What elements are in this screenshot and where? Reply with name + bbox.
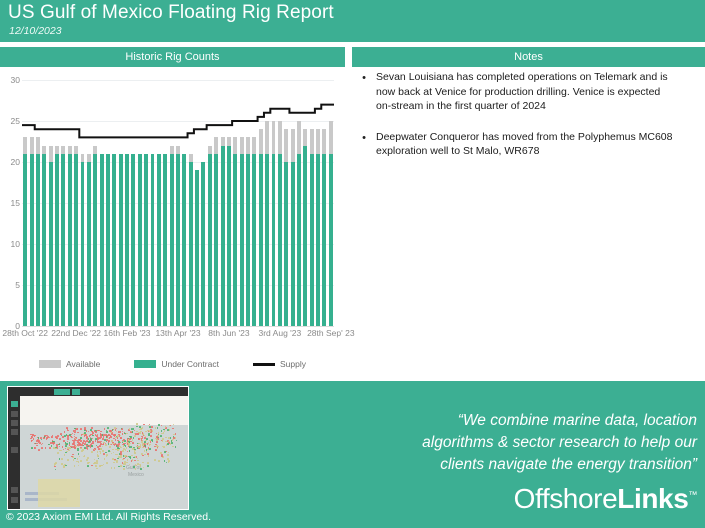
- map-rig-marker: [120, 453, 122, 455]
- map-rig-marker: [54, 466, 56, 468]
- map-rig-marker: [162, 438, 164, 440]
- bullet-icon: •: [352, 70, 376, 114]
- map-rig-marker: [137, 460, 139, 462]
- map-rig-marker: [129, 456, 131, 458]
- map-rig-marker: [81, 444, 83, 446]
- map-rig-marker: [142, 427, 144, 429]
- map-rig-marker: [111, 434, 113, 436]
- map-rig-marker: [86, 459, 88, 461]
- map-rig-marker: [119, 435, 121, 437]
- map-rig-marker: [38, 440, 40, 442]
- map-rig-marker: [126, 433, 128, 435]
- map-rig-marker: [84, 432, 86, 434]
- map-layers-button[interactable]: [11, 401, 18, 407]
- map-rig-marker: [80, 437, 82, 439]
- map-rig-marker: [134, 435, 136, 437]
- map-rig-marker: [140, 428, 142, 430]
- map-rig-marker: [167, 454, 169, 456]
- chart-y-tick-label: 5: [2, 280, 20, 290]
- map-rig-marker: [136, 431, 138, 433]
- map-rig-marker: [137, 433, 139, 435]
- map-rig-marker: [118, 441, 120, 443]
- map-rig-marker: [54, 463, 56, 465]
- gulf-map-thumbnail[interactable]: Gulf of Mexico: [7, 386, 189, 510]
- note-text: Sevan Louisiana has completed operations…: [376, 70, 676, 114]
- chart-x-tick-label: 3rd Aug '23: [259, 328, 302, 338]
- map-rig-marker: [44, 436, 46, 438]
- map-rig-marker: [97, 455, 99, 457]
- map-rig-marker: [109, 437, 111, 439]
- map-rig-marker: [91, 445, 93, 447]
- legend-swatch-icon: [39, 360, 61, 368]
- map-rig-marker: [125, 449, 127, 451]
- map-rig-marker: [46, 437, 48, 439]
- map-rig-marker: [31, 436, 33, 438]
- map-rig-marker: [156, 436, 158, 438]
- map-rig-marker: [95, 431, 97, 433]
- copyright-text: © 2023 Axiom EMI Ltd. All Rights Reserve…: [6, 511, 211, 523]
- map-rig-marker: [151, 426, 153, 428]
- map-rig-marker: [147, 453, 149, 455]
- chart-legend: AvailableUnder ContractSupply: [0, 355, 345, 373]
- map-rig-marker: [99, 445, 101, 447]
- legend-item[interactable]: Under Contract: [134, 359, 219, 369]
- map-rig-marker: [155, 449, 157, 451]
- map-rig-marker: [92, 443, 94, 445]
- map-rig-marker: [112, 429, 114, 431]
- map-rig-marker: [157, 446, 159, 448]
- map-rig-marker: [77, 449, 79, 451]
- map-rig-marker: [154, 459, 156, 461]
- map-rig-marker: [76, 461, 78, 463]
- chart-x-tick-label: 8th Jun '23: [208, 328, 249, 338]
- map-filter-chip-1[interactable]: [54, 389, 70, 395]
- map-rig-marker: [61, 458, 63, 460]
- map-rig-marker: [124, 433, 126, 435]
- map-rig-marker: [167, 443, 169, 445]
- map-zoom-out-button[interactable]: [11, 420, 18, 426]
- map-rig-marker: [149, 440, 151, 442]
- map-rig-marker: [147, 465, 149, 467]
- map-rig-marker: [86, 437, 88, 439]
- tagline-line: clients navigate the energy transition”: [352, 454, 697, 476]
- map-rig-marker: [115, 439, 117, 441]
- map-rig-marker: [31, 447, 33, 449]
- map-measure-button[interactable]: [11, 447, 18, 453]
- map-rig-marker: [103, 443, 105, 445]
- chart-y-tick-label: 15: [2, 198, 20, 208]
- map-rig-marker: [61, 463, 63, 465]
- map-rig-marker: [39, 442, 41, 444]
- note-item: •Deepwater Conqueror has moved from the …: [352, 130, 705, 159]
- chart-x-tick-label: 28th Sep' 23: [307, 328, 354, 338]
- offshorelinks-logo: OffshoreLinks™: [514, 483, 697, 515]
- map-rig-marker: [158, 460, 160, 462]
- map-rig-marker: [113, 443, 115, 445]
- map-rig-marker: [67, 459, 69, 461]
- map-rig-marker: [67, 447, 69, 449]
- map-rig-marker: [156, 441, 158, 443]
- supply-line-series: [22, 80, 334, 326]
- map-rig-marker: [86, 444, 88, 446]
- map-rig-marker: [77, 432, 79, 434]
- chart-x-tick-label: 28th Oct '22: [2, 328, 48, 338]
- map-rig-marker: [168, 461, 170, 463]
- map-rig-marker: [59, 458, 61, 460]
- map-lease-block-area: [38, 479, 80, 507]
- map-rig-marker: [106, 431, 108, 433]
- chart-x-tick-label: 16th Feb '23: [104, 328, 151, 338]
- map-rig-marker: [30, 438, 32, 440]
- company-tagline: “We combine marine data, locationalgorit…: [352, 410, 705, 476]
- map-rig-marker: [147, 462, 149, 464]
- map-rig-marker: [133, 457, 135, 459]
- map-rig-marker: [87, 457, 89, 459]
- page-title: US Gulf of Mexico Floating Rig Report: [8, 2, 334, 24]
- map-rig-marker: [80, 440, 82, 442]
- map-zoom-in-button[interactable]: [11, 411, 18, 417]
- map-rig-marker: [150, 435, 152, 437]
- map-rig-marker: [101, 465, 103, 467]
- historic-rig-counts-chart: 051015202530 28th Oct '2222nd Dec '2216t…: [0, 70, 345, 380]
- map-rig-marker: [98, 430, 100, 432]
- map-rig-marker: [80, 460, 82, 462]
- map-rig-marker: [124, 455, 126, 457]
- map-rig-marker: [149, 430, 151, 432]
- map-rig-marker: [59, 438, 61, 440]
- map-rig-marker: [152, 440, 154, 442]
- map-rig-marker: [167, 458, 169, 460]
- map-rig-marker: [84, 443, 86, 445]
- legend-label: Under Contract: [161, 359, 219, 369]
- map-rig-marker: [142, 443, 144, 445]
- legend-item[interactable]: Available: [39, 359, 100, 369]
- map-rig-marker: [142, 432, 144, 434]
- map-rig-marker: [164, 460, 166, 462]
- supply-step-path: [22, 105, 334, 138]
- map-rig-marker: [108, 440, 110, 442]
- map-rig-marker: [149, 426, 151, 428]
- map-rig-marker: [132, 448, 134, 450]
- map-rig-marker: [36, 443, 38, 445]
- map-search-bar[interactable]: [20, 387, 188, 396]
- map-rig-marker: [51, 445, 53, 447]
- map-rig-marker: [114, 434, 116, 436]
- map-rig-marker: [164, 451, 166, 453]
- report-date: 12/10/2023: [9, 25, 62, 37]
- map-rig-marker: [138, 446, 140, 448]
- map-rig-marker: [118, 456, 120, 458]
- map-rig-marker: [163, 429, 165, 431]
- map-filter-chip-2[interactable]: [72, 389, 80, 395]
- map-rig-marker: [109, 446, 111, 448]
- map-rig-marker: [123, 466, 125, 468]
- map-rig-marker: [162, 440, 164, 442]
- map-rig-marker: [163, 446, 165, 448]
- map-rig-marker: [141, 438, 143, 440]
- bullet-icon: •: [352, 130, 376, 159]
- chart-y-axis: 051015202530: [0, 80, 20, 326]
- map-rig-marker: [30, 434, 32, 436]
- map-rig-marker: [87, 465, 89, 467]
- map-rig-marker: [158, 424, 160, 426]
- map-rig-marker: [80, 428, 82, 430]
- map-rig-marker: [155, 427, 157, 429]
- legend-swatch-icon: [253, 363, 275, 366]
- map-rig-marker: [149, 444, 151, 446]
- map-rig-marker: [69, 434, 71, 436]
- legend-swatch-icon: [134, 360, 156, 368]
- chart-y-tick-label: 25: [2, 116, 20, 126]
- map-rig-marker: [92, 427, 94, 429]
- trademark-symbol: ™: [688, 490, 697, 500]
- map-rig-marker: [171, 442, 173, 444]
- map-rig-marker: [98, 448, 100, 450]
- map-rig-marker: [110, 436, 112, 438]
- map-rig-marker: [38, 449, 40, 451]
- map-rig-marker: [160, 435, 162, 437]
- chart-x-axis: 28th Oct '2222nd Dec '2216th Feb '2313th…: [0, 328, 345, 342]
- map-rig-marker: [100, 452, 102, 454]
- map-rig-marker: [140, 468, 142, 470]
- map-rig-marker: [122, 441, 124, 443]
- map-rig-marker: [107, 427, 109, 429]
- map-rig-marker: [36, 445, 38, 447]
- map-rig-marker: [148, 433, 150, 435]
- chart-y-tick-label: 10: [2, 239, 20, 249]
- map-rig-marker: [110, 432, 112, 434]
- legend-label: Available: [66, 359, 100, 369]
- chart-axis-baseline: [22, 326, 334, 327]
- map-rig-marker: [79, 443, 81, 445]
- map-rig-marker: [57, 435, 59, 437]
- map-rig-marker: [72, 443, 74, 445]
- map-rig-marker: [146, 451, 148, 453]
- map-rig-marker: [123, 463, 125, 465]
- map-rig-marker: [82, 449, 84, 451]
- legend-label: Supply: [280, 359, 306, 369]
- map-rig-marker: [157, 427, 159, 429]
- map-rig-marker: [175, 446, 177, 448]
- map-rig-marker: [117, 437, 119, 439]
- map-rig-marker: [86, 447, 88, 449]
- map-rig-marker: [84, 427, 86, 429]
- map-rig-marker: [149, 448, 151, 450]
- chart-y-tick-label: 20: [2, 157, 20, 167]
- map-rig-marker: [105, 444, 107, 446]
- map-rig-marker: [84, 455, 86, 457]
- map-rig-marker: [120, 437, 122, 439]
- map-rig-marker: [139, 426, 141, 428]
- map-rig-marker: [132, 442, 134, 444]
- map-rig-marker: [117, 449, 119, 451]
- map-rig-marker: [111, 440, 113, 442]
- map-rig-marker: [165, 437, 167, 439]
- map-rig-marker: [108, 434, 110, 436]
- tagline-line: algorithms & sector research to help our: [352, 432, 697, 454]
- notes-panel-title: Notes: [352, 47, 705, 67]
- map-rig-marker: [123, 468, 125, 470]
- map-rig-marker: [97, 451, 99, 453]
- map-rig-marker: [60, 433, 62, 435]
- map-rig-marker: [116, 460, 118, 462]
- chart-x-tick-label: 13th Apr '23: [155, 328, 200, 338]
- chart-panel-title: Historic Rig Counts: [0, 47, 345, 67]
- map-info-button[interactable]: [11, 497, 18, 503]
- map-rig-marker: [62, 446, 64, 448]
- map-rig-marker: [122, 433, 124, 435]
- notes-list: •Sevan Louisiana has completed operation…: [352, 70, 705, 370]
- map-rig-marker: [100, 435, 102, 437]
- map-rig-marker: [97, 438, 99, 440]
- map-home-button[interactable]: [11, 429, 18, 435]
- map-rig-marker: [83, 440, 85, 442]
- map-rig-marker: [168, 437, 170, 439]
- map-rig-marker: [103, 453, 105, 455]
- brand-name-light: Offshore: [514, 483, 618, 514]
- map-rig-marker: [87, 441, 89, 443]
- brand-name-bold: Links: [617, 483, 688, 514]
- map-rig-marker: [64, 431, 66, 433]
- map-rig-marker: [137, 463, 139, 465]
- map-rig-marker: [122, 450, 124, 452]
- chart-y-tick-label: 30: [2, 75, 20, 85]
- map-rig-marker: [135, 433, 137, 435]
- map-rig-marker: [156, 439, 158, 441]
- map-rig-marker: [91, 451, 93, 453]
- map-rig-marker: [95, 465, 97, 467]
- map-rig-marker: [74, 447, 76, 449]
- map-rig-marker: [113, 462, 115, 464]
- map-rig-marker: [74, 431, 76, 433]
- map-rig-marker: [161, 433, 163, 435]
- chart-x-tick-label: 22nd Dec '22: [51, 328, 101, 338]
- map-rig-marker: [49, 447, 51, 449]
- map-rig-marker: [136, 423, 138, 425]
- map-canvas: Gulf of Mexico: [8, 387, 188, 509]
- map-rig-marker: [92, 441, 94, 443]
- map-rig-marker: [120, 465, 122, 467]
- map-rig-marker: [131, 460, 133, 462]
- map-rig-marker: [71, 456, 73, 458]
- note-item: •Sevan Louisiana has completed operation…: [352, 70, 705, 114]
- report-header-band: US Gulf of Mexico Floating Rig Report 12…: [0, 0, 705, 42]
- map-rig-marker: [104, 434, 106, 436]
- map-rig-marker: [53, 442, 55, 444]
- map-rig-marker: [95, 434, 97, 436]
- map-rig-marker: [120, 456, 122, 458]
- map-rig-marker: [90, 438, 92, 440]
- map-rig-marker: [104, 428, 106, 430]
- tagline-line: “We combine marine data, location: [352, 410, 697, 432]
- map-rig-marker: [97, 441, 99, 443]
- map-rig-marker: [106, 455, 108, 457]
- map-rig-marker: [106, 462, 108, 464]
- map-rig-marker: [131, 428, 133, 430]
- map-rig-marker: [128, 444, 130, 446]
- note-text: Deepwater Conqueror has moved from the P…: [376, 130, 676, 159]
- map-rig-marker: [102, 438, 104, 440]
- map-rig-marker: [157, 445, 159, 447]
- map-rig-marker: [129, 438, 131, 440]
- map-rig-marker: [57, 452, 59, 454]
- map-rig-marker: [144, 437, 146, 439]
- map-settings-button[interactable]: [11, 487, 18, 493]
- map-label-gulf-line2: Mexico: [128, 472, 144, 478]
- legend-item[interactable]: Supply: [253, 359, 306, 369]
